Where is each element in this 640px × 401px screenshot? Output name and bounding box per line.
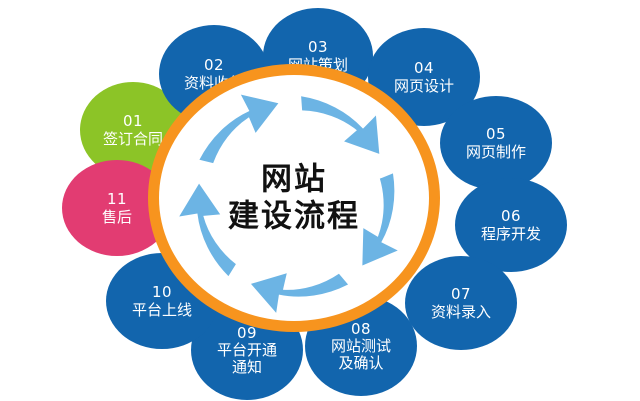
step-number-01: 01: [123, 113, 143, 129]
step-label-08: 网站测试: [331, 338, 391, 354]
diagram-title-line2: 建设流程: [148, 198, 440, 235]
step-label-09: 平台开通: [217, 342, 277, 358]
step-label-11: 售后: [102, 209, 132, 225]
step-number-07: 07: [451, 286, 471, 302]
step-number-05: 05: [486, 126, 506, 142]
step-label-05: 网页制作: [466, 144, 526, 160]
step-label2-09: 通知: [232, 359, 262, 375]
central-process-ring: 网站 建设流程: [148, 64, 440, 332]
step-number-06: 06: [501, 208, 521, 224]
step-label-06: 程序开发: [481, 226, 541, 242]
step-label2-08: 及确认: [338, 355, 383, 371]
diagram-title-line1: 网站: [148, 161, 440, 198]
diagram-title: 网站 建设流程: [148, 161, 440, 234]
diagram-canvas: 01 签订合同 02 资料收集 03 网站策划 04 网页设计 05 网页制作 …: [0, 0, 640, 401]
step-bubble-05[interactable]: 05 网页制作: [440, 96, 552, 190]
cycle-arrow-4: [251, 240, 348, 328]
cycle-arrow-2: [297, 96, 382, 154]
step-number-03: 03: [308, 39, 328, 55]
step-number-11: 11: [107, 191, 127, 207]
